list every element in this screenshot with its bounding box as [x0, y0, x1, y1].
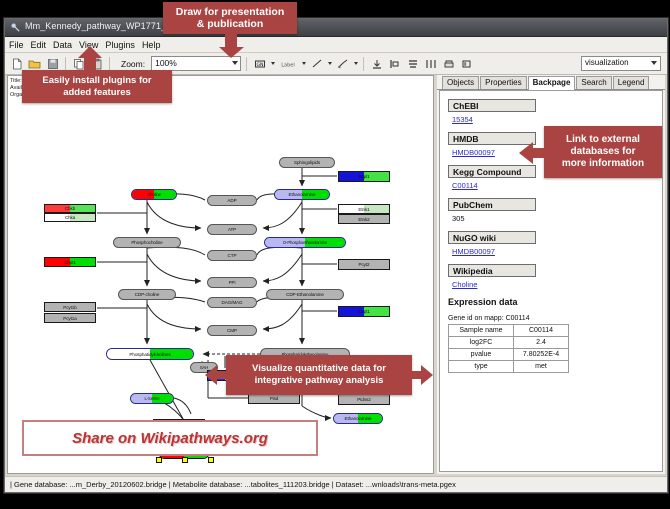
zoom-label: Zoom:	[121, 59, 145, 69]
table-row: pvalue7.80252E-4	[449, 349, 569, 361]
node-label: Etnk1	[358, 207, 369, 212]
metabolite-node-sphingolipids[interactable]: Sphingolipids	[279, 157, 335, 168]
callout-link-line1: Link to external	[566, 134, 640, 146]
callout-link-arrow-icon	[519, 140, 547, 166]
node-label: Pisd	[270, 396, 279, 401]
metabolite-node-phosphocholine[interactable]: Phosphocholine	[113, 237, 181, 248]
chevron-down-icon[interactable]	[232, 61, 238, 65]
metabolite-node-ptdcholines[interactable]: Phosphatidylcholines	[106, 348, 194, 360]
db-heading-pubchem: PubChem	[448, 198, 536, 211]
menu-item-plugins[interactable]: Plugins	[105, 40, 135, 50]
toolbar-separator	[65, 57, 66, 71]
node-label: PPi	[229, 280, 236, 285]
selection-handle[interactable]	[156, 457, 162, 463]
node-label: Ethanolamine	[289, 192, 316, 197]
node-label: Cept1	[358, 309, 370, 314]
expression-key: pvalue	[449, 349, 514, 361]
tab-properties[interactable]: Properties	[480, 76, 526, 89]
callout-draw-line2: & publication	[197, 18, 264, 30]
callout-link-line3: more information	[562, 158, 644, 170]
chevron-down-icon[interactable]	[651, 61, 657, 65]
pathvisio-app-icon	[10, 22, 21, 33]
menu-item-edit[interactable]: Edit	[31, 40, 47, 50]
metabolite-node-lserine_left[interactable]: L-Serine	[130, 393, 174, 404]
chevron-down-icon[interactable]	[354, 62, 358, 65]
expression-value: 2.4	[514, 337, 569, 349]
chevron-down-icon[interactable]	[328, 62, 332, 65]
callout-visualize-arrow-right-icon	[409, 363, 433, 387]
node-label: ADP	[227, 198, 236, 203]
node-label: O-Phosphoethanolamine	[283, 240, 327, 245]
metabolite-node-dagmag[interactable]: DAG/MAG	[207, 297, 257, 308]
table-row: typemet	[449, 361, 569, 373]
gene-node-sgpl1[interactable]: Sgpl1	[338, 171, 390, 182]
table-row: Sample nameC00114	[449, 325, 569, 337]
gene-node-pcyt2[interactable]: Pcyt2	[338, 259, 390, 270]
svg-text:GN: GN	[256, 61, 263, 67]
callout-draw-arrow-icon	[216, 33, 246, 59]
selection-handle[interactable]	[182, 457, 188, 463]
gene-node-chkb[interactable]: Chkb	[44, 204, 96, 213]
distribute-icon[interactable]	[423, 56, 438, 71]
callout-share-text: Share on Wikipathways.org	[72, 430, 268, 447]
node-label: CMP	[227, 328, 237, 333]
expression-value: met	[514, 361, 569, 373]
pathway-canvas[interactable]: Title: Availa Organi	[7, 75, 434, 474]
node-label: Choline	[147, 192, 161, 197]
node-label: CDP-Ethanolamine	[286, 292, 324, 297]
svg-text:Label: Label	[281, 62, 295, 68]
tab-backpage[interactable]: Backpage	[528, 76, 576, 90]
db-value-wikipedia[interactable]: Choline	[452, 280, 662, 289]
new-file-icon[interactable]	[9, 56, 24, 71]
gene-id-line: Gene id on mapp: C00114	[448, 315, 662, 322]
db-heading-chebi: ChEBI	[448, 99, 536, 112]
metabolite-node-ethanolamine[interactable]: Ethanolamine	[274, 189, 330, 200]
node-label: CDP-choline	[135, 292, 160, 297]
node-label: Chkb	[65, 206, 75, 211]
anchor-line-icon[interactable]	[335, 56, 350, 71]
callout-visualize-arrow-left-icon	[205, 363, 229, 387]
tab-objects[interactable]: Objects	[442, 76, 479, 89]
node-label: ATP	[228, 227, 236, 232]
callout-plugins-line2: added features	[63, 87, 131, 99]
expression-data-title: Expression data	[448, 297, 662, 307]
callout-visualize: Visualize quantitative data for integrat…	[226, 355, 412, 395]
order-icon[interactable]	[459, 56, 474, 71]
gene-node-chka[interactable]: Chka	[44, 213, 96, 222]
node-label: Etnk2	[358, 217, 369, 222]
align-top-icon[interactable]	[369, 56, 384, 71]
save-icon[interactable]	[45, 56, 60, 71]
db-value-kegg-compound[interactable]: C00114	[452, 181, 662, 190]
callout-visualize-line1: Visualize quantitative data for	[252, 363, 386, 375]
tab-legend[interactable]: Legend	[613, 76, 650, 89]
metabolite-node-ophosphoetn[interactable]: O-Phosphoethanolamine	[264, 237, 346, 248]
selection-handle[interactable]	[208, 457, 214, 463]
callout-plugins-arrow-icon	[76, 44, 104, 72]
datanode-icon[interactable]: GN	[252, 56, 267, 71]
gene-node-ptdss2[interactable]: Ptdss2	[338, 394, 390, 405]
node-label: L-Serine	[144, 396, 159, 401]
callout-link-databases: Link to external databases for more info…	[544, 126, 662, 178]
expression-key: log2FC	[449, 337, 514, 349]
menu-item-file[interactable]: File	[9, 40, 24, 50]
metabolite-node-cdp_etn[interactable]: CDP-Ethanolamine	[266, 289, 344, 300]
callout-link-line2: databases for	[570, 146, 635, 158]
status-text: | Gene database: ...m_Derby_20120602.bri…	[5, 480, 456, 489]
zoom-value: 100%	[155, 58, 177, 68]
gene-node-pcyt1a[interactable]: Pcyt1a	[44, 313, 96, 323]
callout-draw-line1: Draw for presentation	[176, 6, 285, 18]
title-bar: Mm_Kennedy_pathway_WP1771_45176.gpml	[5, 19, 667, 37]
db-heading-nugo-wiki: NuGO wiki	[448, 231, 536, 244]
expression-key: Sample name	[449, 325, 514, 337]
expression-value: 7.80252E-4	[514, 349, 569, 361]
visualization-select[interactable]: visualization	[581, 56, 661, 71]
node-label: Phosphatidylcholines	[129, 352, 170, 357]
metabolite-node-adp[interactable]: ADP	[207, 195, 257, 206]
callout-visualize-line2: integrative pathway analysis	[255, 375, 384, 387]
metabolite-node-atp[interactable]: ATP	[207, 224, 257, 235]
line-icon[interactable]	[309, 56, 324, 71]
menu-item-data[interactable]: Data	[53, 40, 72, 50]
gene-node-etnk1[interactable]: Etnk1	[338, 204, 390, 214]
metabolite-node-ctp[interactable]: CTP	[207, 250, 257, 261]
node-label: Ethanolamine	[345, 416, 372, 421]
label-icon[interactable]: Label	[278, 56, 298, 71]
toolbar-separator	[363, 57, 364, 71]
expression-key: type	[449, 361, 514, 373]
stack-icon[interactable]	[405, 56, 420, 71]
callout-share: Share on Wikipathways.org	[22, 420, 318, 456]
node-label: CTP	[228, 253, 237, 258]
status-bar: | Gene database: ...m_Derby_20120602.bri…	[5, 476, 667, 492]
toolbar-separator	[246, 57, 247, 71]
metabolite-node-ppi[interactable]: PPi	[207, 277, 257, 288]
node-label: Ptdss2	[357, 397, 370, 402]
node-label: Chpt1	[64, 260, 76, 265]
open-folder-icon[interactable]	[27, 56, 42, 71]
menu-bar[interactable]: File Edit Data View Plugins Help	[5, 37, 667, 53]
table-row: log2FC2.4	[449, 337, 569, 349]
db-value-chebi[interactable]: 15354	[452, 115, 662, 124]
node-label: Pcyt2	[359, 262, 370, 267]
expression-value: C00114	[514, 325, 569, 337]
db-heading-wikipedia: Wikipedia	[448, 264, 536, 277]
node-label: Sgpl1	[358, 174, 369, 179]
callout-plugins: Easily install plugins for added feature…	[22, 70, 172, 103]
callout-draw: Draw for presentation & publication	[163, 2, 297, 34]
node-label: Pcyt1a	[63, 316, 76, 321]
metabolite-node-cdp_choline[interactable]: CDP-choline	[118, 289, 176, 300]
toolbar-separator	[109, 57, 110, 71]
db-value-nugo-wiki[interactable]: HMDB00097	[452, 247, 662, 256]
align-left-icon[interactable]	[387, 56, 402, 71]
chevron-down-icon[interactable]	[302, 62, 306, 65]
metabolite-node-etn_bottom[interactable]: Ethanolamine	[333, 413, 383, 424]
callout-plugins-line1: Easily install plugins for	[42, 75, 151, 87]
tab-search[interactable]: Search	[576, 76, 611, 89]
node-label: Pcyt1b	[63, 305, 76, 310]
gene-node-cept1[interactable]: Cept1	[338, 306, 390, 317]
expression-table: Sample nameC00114log2FC2.4pvalue7.80252E…	[448, 324, 569, 373]
node-label: Phosphocholine	[131, 240, 162, 245]
node-label: DAG/MAG	[222, 300, 243, 305]
chevron-down-icon[interactable]	[271, 62, 275, 65]
menu-item-help[interactable]: Help	[142, 40, 161, 50]
db-value-pubchem: 305	[452, 214, 662, 223]
metabolite-node-cmp[interactable]: CMP	[207, 325, 257, 336]
group-icon[interactable]	[441, 56, 456, 71]
visualization-value: visualization	[585, 58, 629, 67]
side-panel-tabs[interactable]: ObjectsPropertiesBackpageSearchLegend	[437, 75, 665, 90]
node-label: Sphingolipids	[294, 160, 320, 165]
gene-node-pcyt1b[interactable]: Pcyt1b	[44, 302, 96, 312]
gene-node-etnk2[interactable]: Etnk2	[338, 214, 390, 224]
metabolite-node-choline_top[interactable]: Choline	[131, 189, 177, 200]
db-heading-kegg-compound: Kegg Compound	[448, 165, 536, 178]
screenshot-root: Mm_Kennedy_pathway_WP1771_45176.gpml Fil…	[0, 0, 670, 509]
node-label: Chka	[65, 215, 75, 220]
gene-node-chpt1[interactable]: Chpt1	[44, 257, 96, 267]
